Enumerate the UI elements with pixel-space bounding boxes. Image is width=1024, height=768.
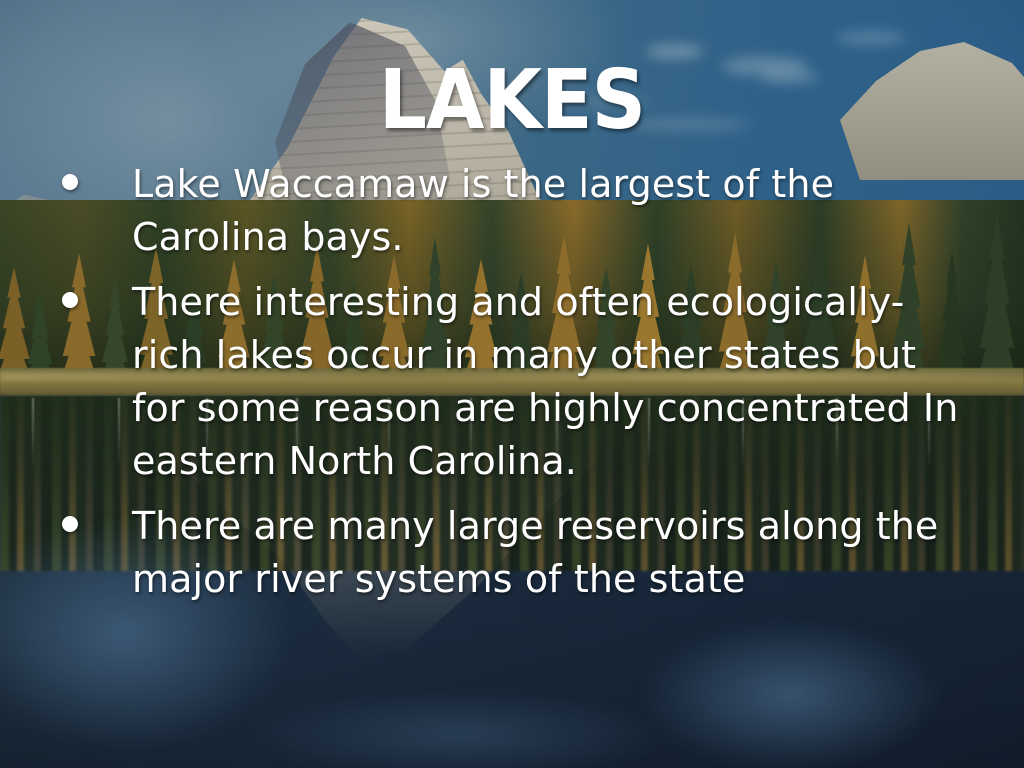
list-item: There interesting and often ecologically… <box>52 276 972 488</box>
bullet-text: There are many large reservoirs along th… <box>132 500 972 606</box>
bullet-list: Lake Waccamaw is the largest of the Caro… <box>52 158 972 618</box>
slide-title: LAKES <box>41 60 983 142</box>
bullet-dot-icon <box>62 516 78 532</box>
bullet-dot-icon <box>62 174 78 190</box>
bullet-text: There interesting and often ecologically… <box>132 276 972 488</box>
bullet-dot-icon <box>62 292 78 308</box>
bullet-text: Lake Waccamaw is the largest of the Caro… <box>132 158 972 264</box>
slide-content: LAKES Lake Waccamaw is the largest of th… <box>0 0 1024 768</box>
list-item: There are many large reservoirs along th… <box>52 500 972 606</box>
list-item: Lake Waccamaw is the largest of the Caro… <box>52 158 972 264</box>
presentation-slide: LAKES Lake Waccamaw is the largest of th… <box>0 0 1024 768</box>
